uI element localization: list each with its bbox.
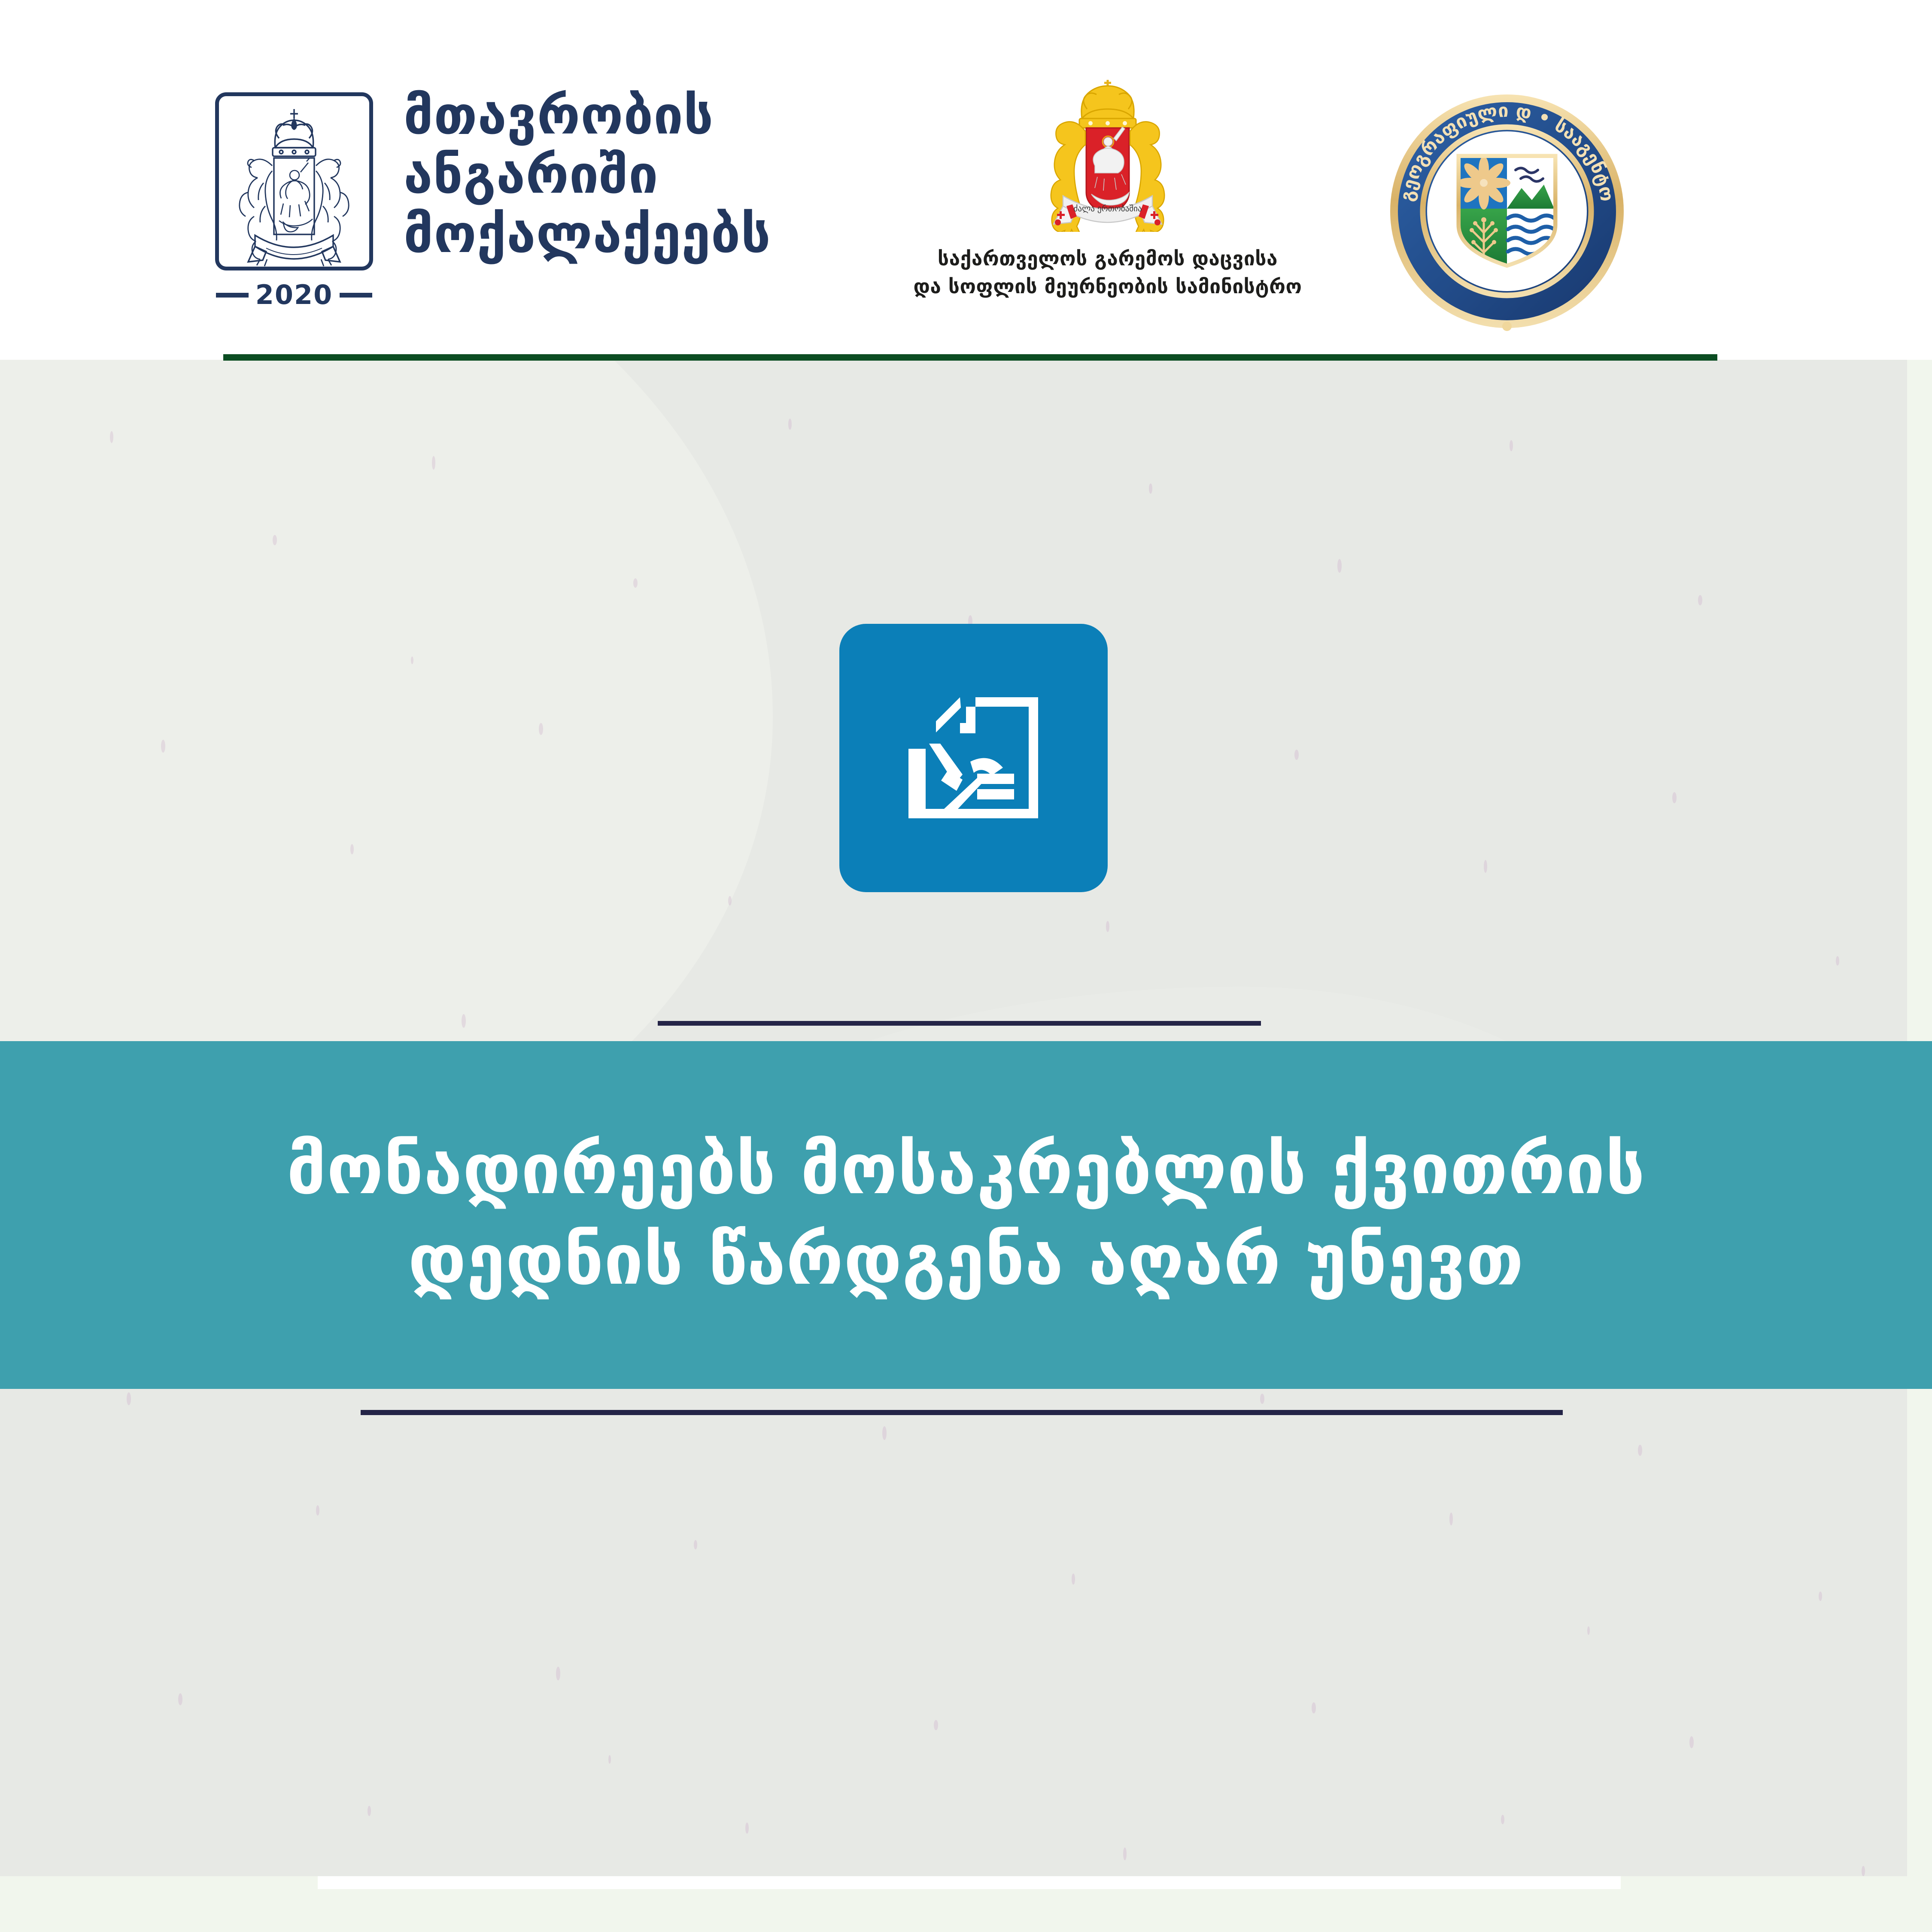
poster-root: 2020 მთავრობის ანგარიში მოქალაქეებს xyxy=(0,0,1932,1932)
header-green-divider xyxy=(223,354,1717,361)
gov-wordmark-line-3: მოქალაქეებს xyxy=(404,205,771,264)
divider-below-banner xyxy=(361,1410,1563,1415)
gov-wordmark: მთავრობის ანგარიში მოქალაქეებს xyxy=(404,86,771,264)
gov-emblem-wrap: 2020 xyxy=(210,92,378,308)
gov-wordmark-line-2: ანგარიში xyxy=(404,146,771,205)
page-title: მონადირეებს მოსაკრებლის ქვითრის დედნის წ… xyxy=(287,1124,1645,1305)
document-signature-icon xyxy=(839,624,1108,892)
georgia-coat-of-arms-outline-icon xyxy=(215,92,373,270)
ministry-name-line-2: და სოფლის მეურნეობის სამინისტრო xyxy=(880,273,1335,301)
svg-text:ძალა ერთობაშია: ძალა ერთობაშია xyxy=(1073,204,1142,213)
ministry-name: საქართველოს გარემოს დაცვისა და სოფლის მე… xyxy=(880,245,1335,301)
gov-year-label: 2020 xyxy=(255,282,333,308)
environment-agency-seal-icon: გეოგრაფიული დ • სააგენტო xyxy=(1387,91,1627,331)
year-rule-left xyxy=(216,293,249,298)
year-rule-right xyxy=(340,293,372,298)
footer-white-rule xyxy=(318,1876,1621,1889)
government-report-logo: 2020 მთავრობის ანგარიში მოქალაქეებს xyxy=(210,92,771,308)
ministry-name-line-1: საქართველოს გარემოს დაცვისა xyxy=(880,245,1335,273)
title-banner: მონადირეებს მოსაკრებლის ქვითრის დედნის წ… xyxy=(0,1041,1932,1389)
divider-above-banner xyxy=(658,1021,1261,1026)
gov-year-row: 2020 xyxy=(210,282,378,308)
georgia-coat-of-arms-color-icon: ძალა ერთობაშია xyxy=(880,77,1335,232)
page-title-line-1: მონადირეებს მოსაკრებლის ქვითრის xyxy=(287,1124,1645,1215)
gov-wordmark-line-1: მთავრობის xyxy=(404,86,771,146)
page-title-line-2: დედნის წარდგენა აღარ უნევთ xyxy=(287,1215,1645,1306)
header-inner: 2020 მთავრობის ანგარიში მოქალაქეებს xyxy=(210,0,1726,360)
header-bar: 2020 მთავრობის ანგარიში მოქალაქეებს xyxy=(0,0,1932,360)
ministry-logo: ძალა ერთობაშია საქართველოს გარემოს დაცვი… xyxy=(880,77,1335,301)
